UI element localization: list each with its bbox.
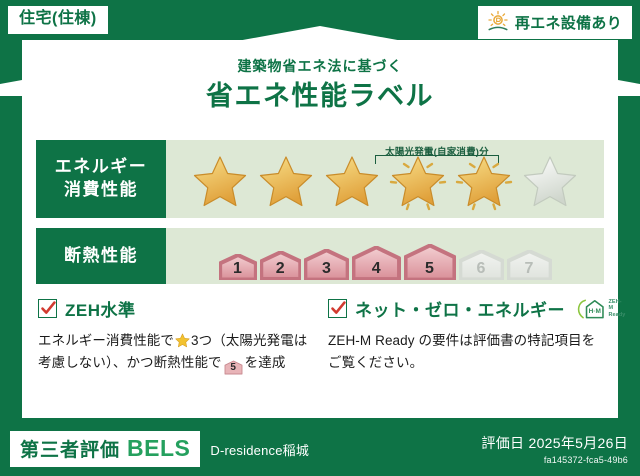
star-filled <box>255 152 317 214</box>
insulation-level-value: 6 <box>477 261 486 277</box>
zeh-m-house-icon: H·M <box>577 297 606 321</box>
zeh-m-caption-line1: ZEH-M <box>608 299 621 311</box>
housing-type-badge: 住宅(住棟) <box>8 6 108 34</box>
zeh-m-ready-logo: H·M ZEH-M Ready <box>577 297 626 321</box>
zeh-text-part3: を達成 <box>245 355 286 370</box>
star-filled <box>189 152 251 214</box>
zeh-title: ZEH水準 <box>65 296 136 321</box>
insulation-level-value: 5 <box>425 261 434 277</box>
insulation-level-value: 4 <box>372 261 381 277</box>
zeh-text-part1: エネルギー消費性能で <box>38 333 174 348</box>
star-filled <box>453 152 515 214</box>
bels-logo: 第三者評価 BELS <box>10 431 200 467</box>
footer: 第三者評価 BELS D-residence稲城 評価日 2025年5月26日 … <box>0 422 640 476</box>
insulation-scale: 1234567 <box>166 244 604 283</box>
net-zero-checkbox <box>328 299 347 318</box>
star-filled <box>321 152 383 214</box>
insulation-rating-area: 1234567 <box>166 228 604 284</box>
renewable-equipment-badge: 再エネ設備あり <box>478 6 632 39</box>
svg-text:H·M: H·M <box>589 308 601 315</box>
insulation-level-value: 3 <box>322 261 331 277</box>
star-icon <box>175 333 190 348</box>
label-id: fa145372-fca5-49b6 <box>481 455 628 465</box>
zeh-checkbox <box>38 299 57 318</box>
energy-performance-row: エネルギー 消費性能 太陽光発電(自家消費)分 <box>36 140 604 218</box>
net-zero-heading: ネット・ゼロ・エネルギー H·M ZEH-M Ready <box>328 296 602 321</box>
project-name: D-residence稲城 <box>210 440 309 459</box>
sun-icon <box>486 10 510 34</box>
star-filled <box>387 152 449 214</box>
star-empty <box>519 152 581 214</box>
renewable-badge-label: 再エネ設備あり <box>515 12 622 33</box>
evaluation-date: 評価日 2025年5月26日 <box>481 433 628 453</box>
net-zero-block: ネット・ゼロ・エネルギー H·M ZEH-M Ready ZEH-M Re <box>328 296 602 412</box>
inline-insulation-badge: 5 <box>224 360 243 375</box>
insulation-level-on: 5 <box>404 244 456 280</box>
insulation-level-on: 2 <box>260 251 302 280</box>
insulation-level-value: 7 <box>525 261 534 277</box>
net-zero-description: ZEH-M Ready の要件は評価書の特記項目をご覧ください。 <box>328 330 602 373</box>
star-rating <box>166 152 604 216</box>
insulation-level-value: 2 <box>276 261 285 277</box>
insulation-performance-row: 断熱性能 1234567 <box>36 228 604 284</box>
zeh-m-caption-line2: Ready <box>608 312 625 318</box>
zeh-heading: ZEH水準 <box>38 296 312 321</box>
insulation-level-off: 6 <box>459 250 504 280</box>
certification-section: ZEH水準 エネルギー消費性能で3つ（太陽光発電は考慮しない）、かつ断熱性能で5… <box>38 296 602 412</box>
footer-meta: 評価日 2025年5月26日 fa145372-fca5-49b6 <box>481 433 628 465</box>
insulation-level-value: 1 <box>233 261 242 277</box>
insulation-level-off: 7 <box>507 250 552 280</box>
bels-jp-text: 第三者評価 <box>20 435 120 462</box>
energy-performance-label-box: エネルギー 消費性能 <box>36 140 166 218</box>
inline-insulation-value: 5 <box>224 360 243 376</box>
zeh-m-ready-caption: ZEH-M Ready <box>608 299 626 318</box>
insulation-label-text: 断熱性能 <box>64 245 138 268</box>
check-icon <box>330 300 347 317</box>
energy-label-line1: エネルギー <box>55 156 148 179</box>
check-icon <box>40 300 57 317</box>
bels-en-text: BELS <box>127 435 190 462</box>
net-zero-title: ネット・ゼロ・エネルギー <box>355 296 565 321</box>
energy-rating-area: 太陽光発電(自家消費)分 <box>166 140 604 218</box>
header: 住宅(住棟) 再エネ設備あり <box>0 0 640 96</box>
zeh-description: エネルギー消費性能で3つ（太陽光発電は考慮しない）、かつ断熱性能で5を達成 <box>38 330 312 375</box>
energy-label-line2: 消費性能 <box>64 179 138 202</box>
insulation-level-on: 1 <box>219 254 257 280</box>
zeh-standard-block: ZEH水準 エネルギー消費性能で3つ（太陽光発電は考慮しない）、かつ断熱性能で5… <box>38 296 312 412</box>
insulation-level-on: 3 <box>304 249 349 280</box>
label-body: 建築物省エネ法に基づく 省エネ性能ラベル エネルギー 消費性能 太陽光発電(自家… <box>22 40 618 418</box>
insulation-level-on: 4 <box>352 246 401 280</box>
insulation-label-box: 断熱性能 <box>36 228 166 284</box>
energy-performance-label: 住宅(住棟) 再エネ設備あり 建築物省エネ法に基づ <box>0 0 640 476</box>
